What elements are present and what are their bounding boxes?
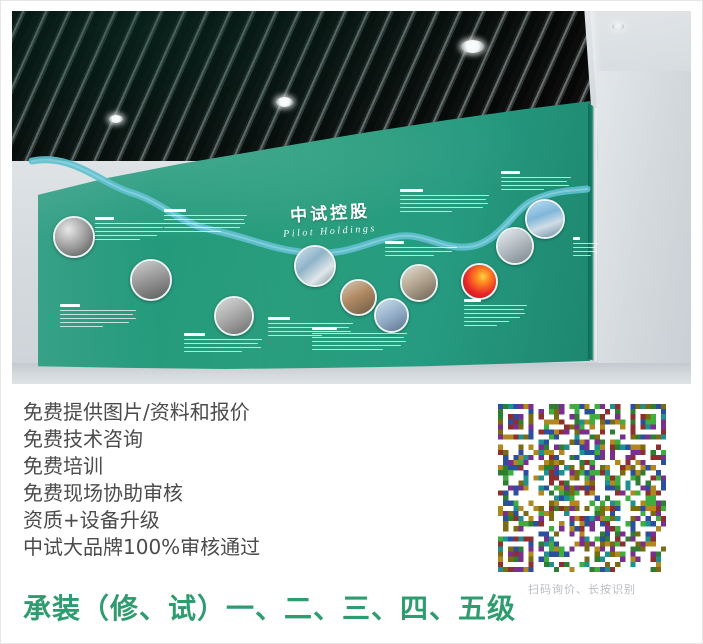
timeline-node-3 xyxy=(214,296,254,336)
panel-side-edge xyxy=(588,99,597,367)
timeline-node-5 xyxy=(340,279,377,316)
company-culture-wall-photo: 中试控股 Pilot Holdings xyxy=(12,11,691,384)
timeline-node-9 xyxy=(496,227,534,265)
benefits-list-items: 免费提供图片/资料和报价 免费技术咨询 免费培训 免费现场协助审核 资质+设备升… xyxy=(23,399,443,561)
timeline-node-6 xyxy=(374,298,409,333)
timeline-node-4 xyxy=(294,245,336,287)
back-wall-right xyxy=(598,71,691,384)
list-item: 免费提供图片/资料和报价 xyxy=(23,399,443,426)
qr-caption: 扫码询价、长按识别 xyxy=(471,581,693,597)
downlight-4 xyxy=(612,23,624,30)
page-root: 中试控股 Pilot Holdings xyxy=(0,0,703,644)
list-item: 免费现场协助审核 xyxy=(23,480,443,507)
timeline-node-7 xyxy=(400,264,438,302)
timeline-node-2 xyxy=(130,259,172,301)
qr-code-image[interactable] xyxy=(498,404,666,572)
downlight-1 xyxy=(461,40,484,53)
list-item: 免费技术咨询 xyxy=(23,426,443,453)
timeline-node-10 xyxy=(525,199,565,239)
qualification-tagline: 承装（修、试）一、二、三、四、五级 xyxy=(23,587,516,627)
list-item: 资质+设备升级 xyxy=(23,507,443,534)
benefits-list: 免费提供图片/资料和报价 免费技术咨询 免费培训 免费现场协助审核 资质+设备升… xyxy=(23,399,443,561)
timeline-node-8-flag xyxy=(461,263,498,300)
qr-code[interactable] xyxy=(498,404,666,572)
list-item: 免费培训 xyxy=(23,453,443,480)
timeline-node-1 xyxy=(53,216,95,258)
list-item: 中试大品牌100%审核通过 xyxy=(23,534,443,561)
